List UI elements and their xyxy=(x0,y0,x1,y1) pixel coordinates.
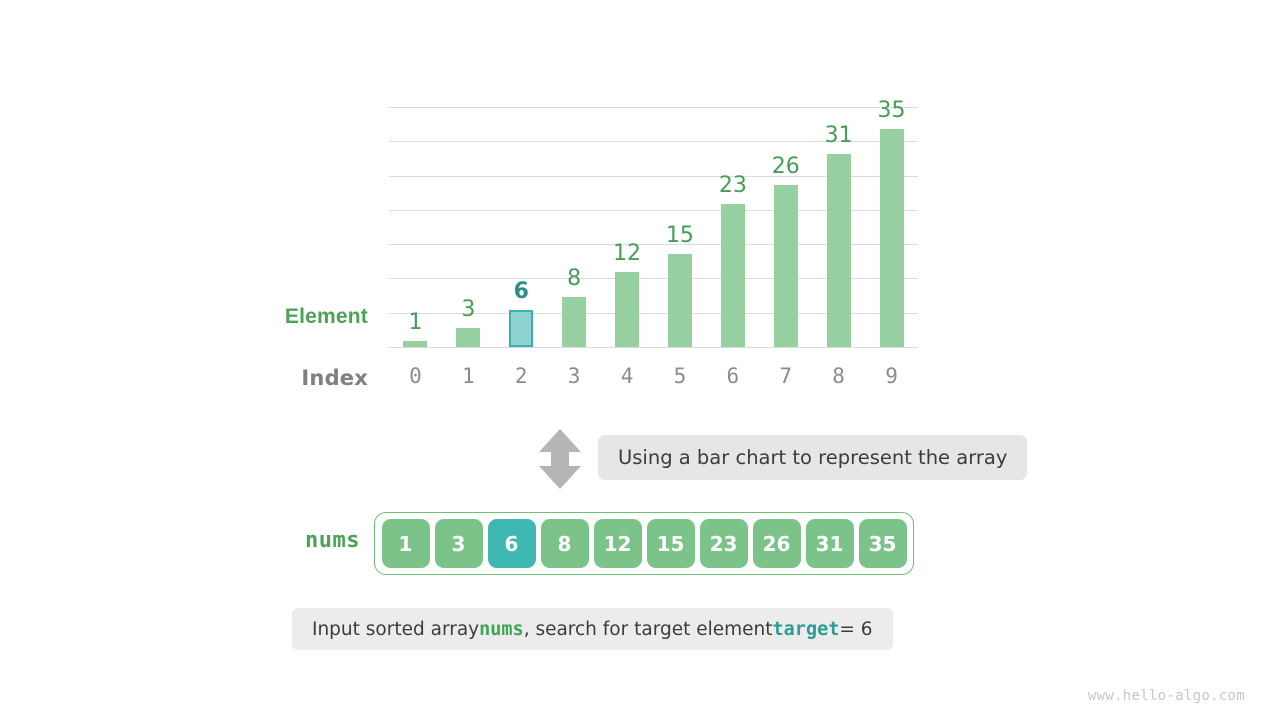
bar xyxy=(668,254,692,348)
nums-array-row: nums 1368121523263135 xyxy=(0,512,1280,577)
bar-value-label: 1 xyxy=(408,310,422,335)
bar xyxy=(403,341,427,347)
index-tick: 5 xyxy=(654,364,707,388)
index-tick: 2 xyxy=(495,364,548,388)
index-tick: 4 xyxy=(601,364,654,388)
bar xyxy=(615,272,639,347)
watermark: www.hello-algo.com xyxy=(1088,688,1245,704)
array-cell: 35 xyxy=(859,519,907,568)
index-tick: 9 xyxy=(865,364,918,388)
bar-slot: 23 xyxy=(706,107,759,347)
bar-slot: 35 xyxy=(865,107,918,347)
bar-value-label: 35 xyxy=(878,98,906,123)
caption-code-nums: nums xyxy=(479,619,524,640)
bar-slot: 3 xyxy=(442,107,495,347)
bar xyxy=(827,154,851,347)
array-cell: 8 xyxy=(541,519,589,568)
caption-part-3: = 6 xyxy=(839,619,872,640)
bar-slot: 1 xyxy=(389,107,442,347)
bar-slot: 6 xyxy=(495,107,548,347)
bar xyxy=(456,328,480,347)
caption-code-target: target xyxy=(773,619,840,640)
bar xyxy=(721,204,745,347)
index-axis-label: Index xyxy=(180,366,368,390)
plot-region: 1368121523263135 xyxy=(389,107,918,347)
bottom-caption: Input sorted array nums, search for targ… xyxy=(292,608,893,650)
index-tick: 0 xyxy=(389,364,442,388)
element-axis-label: Element xyxy=(180,305,368,329)
caption-part-2: , search for target element xyxy=(524,619,773,640)
bar-value-label: 6 xyxy=(514,279,529,304)
bar-value-label: 8 xyxy=(567,266,581,291)
index-tick: 1 xyxy=(442,364,495,388)
array-cell: 31 xyxy=(806,519,854,568)
array-cell: 12 xyxy=(594,519,642,568)
bar-slot: 12 xyxy=(601,107,654,347)
array-cell: 23 xyxy=(700,519,748,568)
index-tick: 3 xyxy=(548,364,601,388)
bar-value-label: 12 xyxy=(613,241,641,266)
bar-highlighted xyxy=(509,310,533,347)
caption-part-1: Input sorted array xyxy=(312,619,479,640)
nums-label: nums xyxy=(170,528,360,553)
array-cell: 15 xyxy=(647,519,695,568)
chart-array-link-row: Using a bar chart to represent the array xyxy=(0,424,1280,494)
gridline xyxy=(389,347,918,348)
array-cell: 3 xyxy=(435,519,483,568)
bar-slot: 15 xyxy=(654,107,707,347)
bar xyxy=(562,297,586,347)
index-tick: 8 xyxy=(812,364,865,388)
index-tick: 6 xyxy=(706,364,759,388)
array-cell: 1 xyxy=(382,519,430,568)
array-cell: 26 xyxy=(753,519,801,568)
bar-slot: 31 xyxy=(812,107,865,347)
bar-value-label: 15 xyxy=(666,223,694,248)
bar-chart: Element Index 1368121523263135 012345678… xyxy=(0,0,1280,410)
bar-value-label: 23 xyxy=(719,173,747,198)
array-cell-highlighted: 6 xyxy=(488,519,536,568)
bar xyxy=(774,185,798,347)
bar-value-label: 26 xyxy=(772,154,800,179)
index-tick: 7 xyxy=(759,364,812,388)
bar xyxy=(880,129,904,347)
bar-slot: 8 xyxy=(548,107,601,347)
bar-value-label: 3 xyxy=(461,297,475,322)
bar-value-label: 31 xyxy=(825,123,853,148)
up-down-arrow-icon xyxy=(538,428,582,495)
bar-slot: 26 xyxy=(759,107,812,347)
chart-caption-text: Using a bar chart to represent the array xyxy=(598,435,1027,480)
array-container: 1368121523263135 xyxy=(374,512,914,575)
